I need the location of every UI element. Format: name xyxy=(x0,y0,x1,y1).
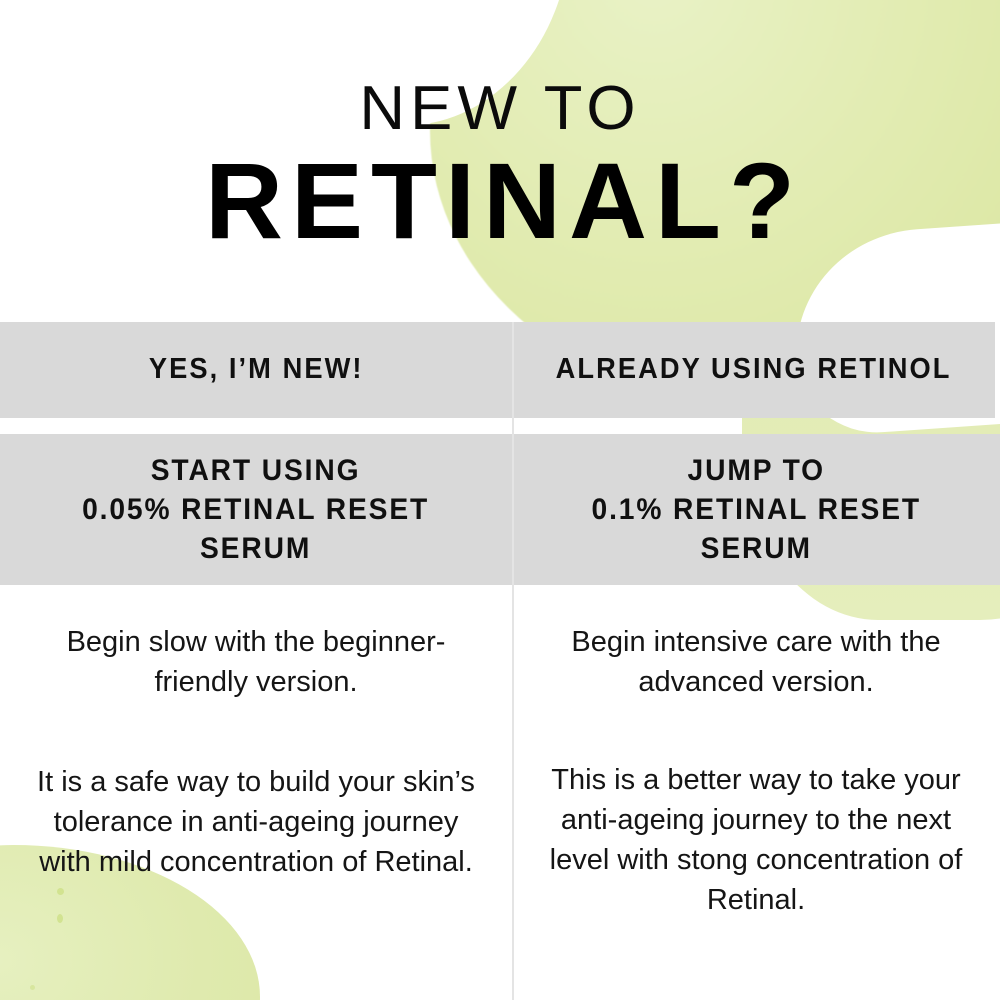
product-line-3: SERUM xyxy=(200,532,311,565)
product-line-2: 0.1% RETINAL RESET xyxy=(591,493,920,526)
body-paragraph-retinol-user-2: This is a better way to take your anti-a… xyxy=(540,760,972,920)
body-column-retinol-user: Begin intensive care with the advanced v… xyxy=(512,622,1000,920)
title-line-two: RETINAL? xyxy=(0,146,1000,256)
product-cell-new-user: START USING 0.05% RETINAL RESET SERUM xyxy=(0,434,512,585)
product-label-retinol-user: JUMP TO 0.1% RETINAL RESET SERUM xyxy=(578,451,934,568)
infographic-canvas: NEW TO RETINAL? YES, I’M NEW! ALREADY US… xyxy=(0,0,1000,1000)
column-header-cell-retinol-user: ALREADY USING RETINOL xyxy=(512,322,995,418)
column-divider xyxy=(512,322,514,1000)
column-header-label-new-user: YES, I’M NEW! xyxy=(132,351,381,388)
product-line-2: 0.05% RETINAL RESET xyxy=(82,493,429,526)
page-title: NEW TO RETINAL? xyxy=(0,78,1000,256)
title-line-one: NEW TO xyxy=(0,78,1000,140)
body-column-new-user: Begin slow with the beginner-friendly ve… xyxy=(0,622,512,920)
column-header-label-retinol-user: ALREADY USING RETINOL xyxy=(539,351,969,388)
table-header-row: YES, I’M NEW! ALREADY USING RETINOL xyxy=(0,322,995,418)
column-header-cell-new-user: YES, I’M NEW! xyxy=(0,322,512,418)
body-paragraph-new-user-2: It is a safe way to build your skin’s to… xyxy=(32,762,480,882)
body-paragraph-retinol-user-1: Begin intensive care with the advanced v… xyxy=(540,622,972,702)
table-body-row: Begin slow with the beginner-friendly ve… xyxy=(0,622,1000,920)
table-product-row: START USING 0.05% RETINAL RESET SERUM JU… xyxy=(0,434,1000,585)
product-line-3: SERUM xyxy=(700,532,811,565)
body-paragraph-new-user-1: Begin slow with the beginner-friendly ve… xyxy=(32,622,480,702)
comparison-table: YES, I’M NEW! ALREADY USING RETINOL STAR… xyxy=(0,322,1000,1000)
product-cell-retinol-user: JUMP TO 0.1% RETINAL RESET SERUM xyxy=(512,434,1000,585)
product-label-new-user: START USING 0.05% RETINAL RESET SERUM xyxy=(69,451,442,568)
product-line-1: JUMP TO xyxy=(687,454,824,487)
product-line-1: START USING xyxy=(151,454,361,487)
